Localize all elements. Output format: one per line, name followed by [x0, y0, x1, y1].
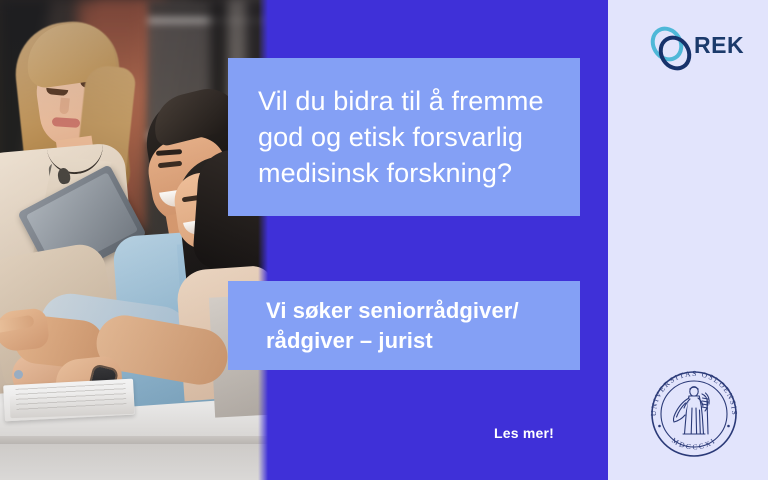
job-title-text: Vi søker seniorrådgiver/ rådgiver – juri…: [228, 296, 519, 354]
rek-rings-icon: [648, 26, 696, 72]
job-title-box: Vi søker seniorrådgiver/ rådgiver – juri…: [228, 281, 580, 370]
job-advert-banner: REK: [0, 0, 768, 480]
uio-seal-logo[interactable]: UNIVERSITAS OSLOENSIS MDCCCXI: [644, 364, 744, 464]
rek-logo[interactable]: REK: [648, 26, 744, 72]
uio-seal-icon: UNIVERSITAS OSLOENSIS MDCCCXI: [644, 364, 744, 464]
uio-seal-bottom-text: MDCCCXI: [670, 436, 718, 452]
headline-box: Vil du bidra til å fremme god og etisk f…: [228, 58, 580, 216]
rek-wordmark: REK: [694, 34, 744, 57]
svg-text:MDCCCXI: MDCCCXI: [670, 436, 718, 452]
read-more-link[interactable]: Les mer!: [228, 425, 580, 441]
headline-text: Vil du bidra til å fremme god og etisk f…: [228, 83, 544, 192]
